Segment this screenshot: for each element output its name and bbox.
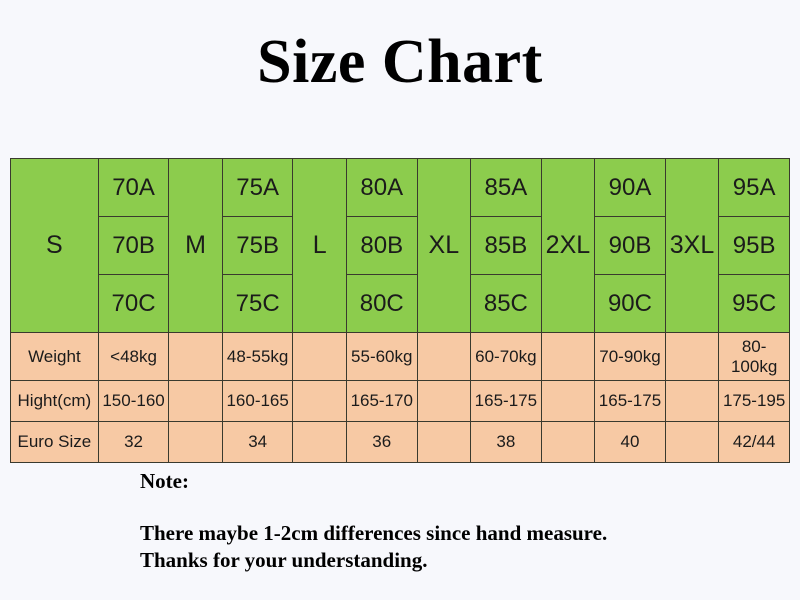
spacer-cell-weight-1	[169, 333, 223, 381]
spacer-cell-height-4	[541, 381, 595, 422]
table-row-height: Hight(cm) 150-160 160-165 165-170 165-17…	[11, 381, 790, 422]
note-block: Note: There maybe 1-2cm differences sinc…	[140, 468, 780, 574]
table-row-euro-size: Euro Size 32 34 36 38 40 42/44	[11, 422, 790, 463]
spacer-cell-weight-2	[293, 333, 347, 381]
weight-value-0: <48kg	[98, 333, 169, 381]
spacer-cell-euro-4	[541, 422, 595, 463]
size-label-0: S	[11, 159, 99, 333]
height-value-0: 150-160	[98, 381, 169, 422]
spacer-cell-height-5	[665, 381, 719, 422]
cup-size-0-c: 70C	[98, 275, 169, 333]
note-line-1: There maybe 1-2cm differences since hand…	[140, 520, 780, 547]
euro-size-value-3: 38	[471, 422, 542, 463]
spacer-cell-euro-5	[665, 422, 719, 463]
height-value-4: 165-175	[595, 381, 666, 422]
cup-size-1-c: 75C	[222, 275, 293, 333]
euro-size-value-5: 42/44	[719, 422, 790, 463]
size-label-4: 2XL	[541, 159, 595, 333]
weight-value-3: 60-70kg	[471, 333, 542, 381]
spacer-cell-weight-3	[417, 333, 471, 381]
spacer-cell-height-2	[293, 381, 347, 422]
page-title: Size Chart	[0, 26, 800, 98]
spacer-cell-euro-2	[293, 422, 347, 463]
table-body: S 70A M 75A L 80A XL 85A 2XL 90A 3XL 95A…	[11, 159, 790, 463]
cup-size-4-a: 90A	[595, 159, 666, 217]
cup-size-1-b: 75B	[222, 217, 293, 275]
weight-value-5: 80-100kg	[719, 333, 790, 381]
table-row-weight: Weight <48kg 48-55kg 55-60kg 60-70kg 70-…	[11, 333, 790, 381]
cup-size-4-b: 90B	[595, 217, 666, 275]
cup-size-3-b: 85B	[471, 217, 542, 275]
cup-size-3-a: 85A	[471, 159, 542, 217]
measure-row-label-euro-size: Euro Size	[11, 422, 99, 463]
euro-size-value-1: 34	[222, 422, 293, 463]
spacer-cell-weight-4	[541, 333, 595, 381]
note-line-2: Thanks for your understanding.	[140, 547, 780, 574]
cup-size-2-c: 80C	[346, 275, 417, 333]
weight-value-1: 48-55kg	[222, 333, 293, 381]
height-value-3: 165-175	[471, 381, 542, 422]
cup-size-0-b: 70B	[98, 217, 169, 275]
table-row-cup-a: S 70A M 75A L 80A XL 85A 2XL 90A 3XL 95A	[11, 159, 790, 217]
spacer-cell-height-1	[169, 381, 223, 422]
cup-size-5-c: 95C	[719, 275, 790, 333]
weight-value-2: 55-60kg	[346, 333, 417, 381]
height-value-1: 160-165	[222, 381, 293, 422]
spacer-cell-euro-3	[417, 422, 471, 463]
cup-size-2-b: 80B	[346, 217, 417, 275]
spacer-cell-height-3	[417, 381, 471, 422]
size-label-5: 3XL	[665, 159, 719, 333]
cup-size-5-a: 95A	[719, 159, 790, 217]
cup-size-4-c: 90C	[595, 275, 666, 333]
euro-size-value-2: 36	[346, 422, 417, 463]
cup-size-5-b: 95B	[719, 217, 790, 275]
note-heading: Note:	[140, 468, 780, 494]
height-value-2: 165-170	[346, 381, 417, 422]
size-chart-table: S 70A M 75A L 80A XL 85A 2XL 90A 3XL 95A…	[10, 158, 790, 463]
cup-size-0-a: 70A	[98, 159, 169, 217]
euro-size-value-0: 32	[98, 422, 169, 463]
size-label-1: M	[169, 159, 223, 333]
weight-value-4: 70-90kg	[595, 333, 666, 381]
euro-size-value-4: 40	[595, 422, 666, 463]
spacer-cell-weight-5	[665, 333, 719, 381]
cup-size-1-a: 75A	[222, 159, 293, 217]
cup-size-2-a: 80A	[346, 159, 417, 217]
size-label-3: XL	[417, 159, 471, 333]
measure-row-label-height: Hight(cm)	[11, 381, 99, 422]
measure-row-label-weight: Weight	[11, 333, 99, 381]
spacer-cell-euro-1	[169, 422, 223, 463]
size-label-2: L	[293, 159, 347, 333]
cup-size-3-c: 85C	[471, 275, 542, 333]
height-value-5: 175-195	[719, 381, 790, 422]
